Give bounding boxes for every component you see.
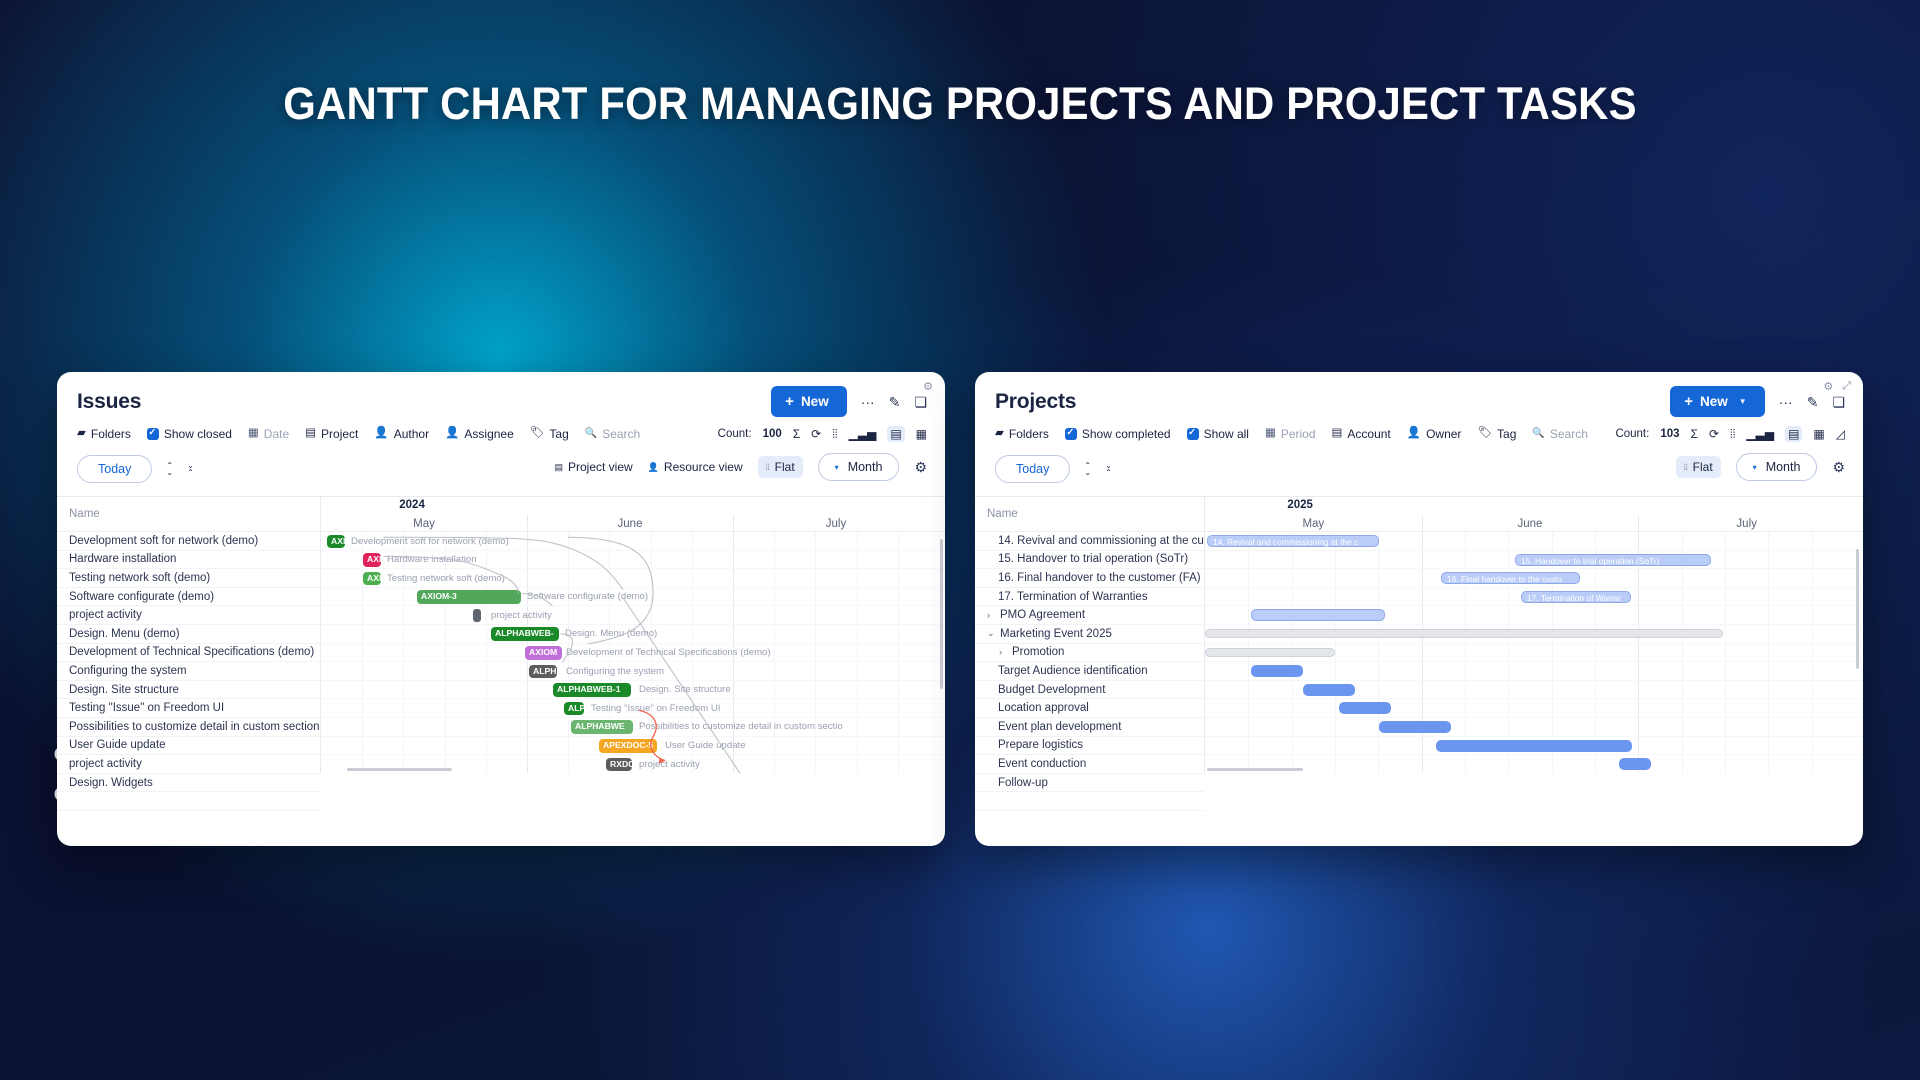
week-gridline <box>1595 699 1596 717</box>
trend-chart-icon[interactable]: ◿ <box>1836 428 1845 440</box>
gear-icon[interactable]: ⚙ <box>1832 460 1845 474</box>
month-gridline <box>1422 681 1423 699</box>
week-gridline <box>774 681 775 699</box>
gantt-bar[interactable] <box>1339 702 1391 714</box>
gantt-bar[interactable]: ALPHABWEB-1 <box>553 683 631 697</box>
issues-header: Issues + New ··· ✎ ❏ <box>57 372 945 414</box>
table-row[interactable]: ›Promotion <box>975 644 1204 663</box>
week-gridline <box>898 699 899 717</box>
week-gridline <box>403 718 404 736</box>
week-gridline <box>1812 569 1813 587</box>
week-gridline <box>857 737 858 755</box>
table-row[interactable]: ⌄Marketing Event 2025 <box>975 625 1204 644</box>
gantt-row <box>1205 755 1863 773</box>
week-gridline <box>774 588 775 606</box>
gantt-bar-caption: project activity <box>491 609 552 623</box>
week-gridline <box>898 551 899 569</box>
issues-vertical-scrollbar[interactable] <box>940 539 944 689</box>
week-gridline <box>1248 569 1249 587</box>
table-row[interactable] <box>975 792 1204 811</box>
issues-month-labels: MayJuneJuly <box>321 513 945 531</box>
week-gridline <box>1682 532 1683 550</box>
person-icon: 👤 <box>445 428 459 440</box>
table-row[interactable]: Possibilities to customize detail in cus… <box>57 718 320 737</box>
filter-author[interactable]: 👤Author <box>374 427 429 441</box>
gantt-bar[interactable]: AXIOM <box>525 646 562 660</box>
week-gridline <box>1292 569 1293 587</box>
week-gridline <box>362 588 363 606</box>
month-gridline <box>527 755 528 773</box>
week-gridline <box>486 644 487 662</box>
row-label: Target Audience identification <box>998 665 1148 677</box>
bar-chart-icon[interactable]: ▁▃▅ <box>1746 428 1774 440</box>
list-view-icon[interactable]: ⦙⦙ <box>1730 428 1735 440</box>
issues-count-value: 100 <box>763 428 782 440</box>
week-gridline <box>1595 755 1596 773</box>
gantt-bar[interactable] <box>1303 684 1355 696</box>
pencil-icon[interactable]: ✎ <box>1807 395 1819 409</box>
filter-folders[interactable]: ▰Folders <box>77 427 131 441</box>
table-row[interactable] <box>57 792 320 811</box>
issues-count-label: Count: <box>718 428 752 440</box>
view-mode-resource-view[interactable]: 👤Resource view <box>648 460 743 474</box>
vertical-stepper-icon[interactable]: ⌃⌄ <box>166 462 173 476</box>
collapse-rows-icon[interactable]: ⌄⌃ <box>1105 462 1112 476</box>
filter-period[interactable]: ▦Period <box>1265 427 1316 441</box>
issues-panel: ⚙ Issues + New ··· ✎ ❏ ▰FoldersShow clos… <box>57 372 945 846</box>
week-gridline <box>1335 718 1336 736</box>
filter-label: Folders <box>91 427 131 441</box>
view-mode-flat[interactable]: ⦙⦙Flat <box>1676 456 1721 478</box>
pencil-icon[interactable]: ✎ <box>889 395 901 409</box>
week-gridline <box>1292 699 1293 717</box>
filter-account[interactable]: ▤Account <box>1332 427 1391 441</box>
month-gridline <box>1638 718 1639 736</box>
gantt-bar[interactable]: 14. Revival and commissioning at the c <box>1207 535 1379 547</box>
week-gridline <box>1768 532 1769 550</box>
issues-row-names: Development soft for network (demo)Hardw… <box>57 532 320 811</box>
week-gridline <box>1812 551 1813 569</box>
week-gridline <box>898 606 899 624</box>
view-mode-label: Flat <box>1693 460 1713 474</box>
week-gridline <box>362 644 363 662</box>
milestone-marker[interactable] <box>473 609 481 623</box>
table-row[interactable]: 17. Termination of Warranties <box>975 588 1204 607</box>
week-gridline <box>651 569 652 587</box>
bar-chart-icon[interactable]: ▁▃▅ <box>849 428 877 440</box>
filter-show-closed[interactable]: Show closed <box>147 427 232 441</box>
search-icon: 🔍 <box>1532 429 1544 439</box>
gantt-bar[interactable] <box>1379 721 1451 733</box>
chevron-down-icon[interactable]: ⌄ <box>987 628 1000 639</box>
week-gridline <box>1508 718 1509 736</box>
month-gridline <box>1422 662 1423 680</box>
week-gridline <box>692 588 693 606</box>
table-row[interactable]: Event conduction <box>975 755 1204 774</box>
week-gridline <box>1768 737 1769 755</box>
table-row[interactable]: project activity <box>57 606 320 625</box>
week-gridline <box>1768 588 1769 606</box>
week-gridline <box>692 662 693 680</box>
table-row[interactable]: Testing network soft (demo) <box>57 569 320 588</box>
week-gridline <box>568 569 569 587</box>
table-row[interactable]: Event plan development <box>975 718 1204 737</box>
checkbox-icon[interactable] <box>1065 428 1077 440</box>
gantt-bar[interactable]: RXDC <box>606 758 632 772</box>
week-gridline <box>1682 699 1683 717</box>
table-row[interactable]: Development of Technical Specifications … <box>57 644 320 663</box>
filter-project[interactable]: ▤Project <box>305 427 358 441</box>
filter-tag[interactable]: 🏷Tag <box>1477 427 1516 441</box>
month-gridline <box>527 569 528 587</box>
table-row[interactable]: 15. Handover to trial operation (SoTr) <box>975 551 1204 570</box>
gantt-bar-caption: Development of Technical Specifications … <box>566 646 771 660</box>
week-gridline <box>898 681 899 699</box>
gantt-row <box>1205 681 1863 700</box>
week-gridline <box>568 532 569 550</box>
filter-label: Account <box>1347 427 1390 441</box>
week-gridline <box>1552 699 1553 717</box>
month-gridline <box>1638 699 1639 717</box>
month-gridline <box>733 606 734 624</box>
projects-year-label: 2025 <box>1287 499 1313 511</box>
week-gridline <box>568 551 569 569</box>
week-gridline <box>898 569 899 587</box>
gantt-bar-caption: Development soft for network (demo) <box>351 535 509 549</box>
week-gridline <box>651 551 652 569</box>
refresh-icon[interactable]: ⟳ <box>1709 428 1719 440</box>
gantt-bar[interactable]: AXI <box>363 553 381 567</box>
filter-label: Project <box>321 427 358 441</box>
month-gridline <box>1638 588 1639 606</box>
issues-new-button[interactable]: + New <box>771 386 847 417</box>
gantt-bar[interactable] <box>1251 609 1385 621</box>
search-input[interactable]: 🔍Search <box>585 427 640 441</box>
week-gridline <box>1682 718 1683 736</box>
view-mode-label: Flat <box>775 460 795 474</box>
gantt-bar[interactable]: ALPHABWE <box>571 720 633 734</box>
gantt-bar[interactable] <box>1436 740 1632 752</box>
chevron-down-icon: ▼ <box>1739 397 1747 406</box>
week-gridline <box>774 606 775 624</box>
gantt-bar-caption: 16. Final handover to the custo <box>1447 573 1562 585</box>
week-gridline <box>1508 699 1509 717</box>
gantt-bar[interactable]: AXIOM-3 <box>417 590 521 604</box>
grid-view-icon[interactable]: ▦ <box>916 428 927 440</box>
table-row[interactable]: Software configurate (demo) <box>57 588 320 607</box>
week-gridline <box>1248 551 1249 569</box>
week-gridline <box>1552 718 1553 736</box>
month-gridline <box>527 532 528 550</box>
gantt-row: ALPTesting "Issue" on Freedom UI <box>321 699 945 718</box>
refresh-icon[interactable]: ⟳ <box>811 428 821 440</box>
grid-icon: ⦙⦙ <box>766 463 770 472</box>
table-row[interactable]: 14. Revival and commissioning at the cus… <box>975 532 1204 551</box>
week-gridline <box>1378 588 1379 606</box>
ellipsis-icon[interactable]: ··· <box>1779 395 1793 409</box>
gantt-bar[interactable]: AXI <box>327 535 345 549</box>
week-gridline <box>1725 569 1726 587</box>
month-gridline <box>1422 569 1423 587</box>
week-gridline <box>1812 755 1813 773</box>
week-gridline <box>1508 755 1509 773</box>
filter-label: Tag <box>1497 427 1516 441</box>
filter-date[interactable]: ▦Date <box>248 427 289 441</box>
table-row[interactable]: Follow-up <box>975 774 1204 793</box>
gantt-bar[interactable] <box>1205 648 1335 657</box>
view-mode-project-view[interactable]: ▤Project view <box>554 460 632 474</box>
week-gridline <box>651 532 652 550</box>
gantt-bar[interactable] <box>1619 758 1651 770</box>
week-gridline <box>1725 662 1726 680</box>
month-label: May <box>1205 518 1422 530</box>
table-row[interactable]: Design. Menu (demo) <box>57 625 320 644</box>
week-gridline <box>445 737 446 755</box>
gantt-bar[interactable] <box>1205 629 1723 638</box>
chevron-right-icon[interactable]: › <box>999 647 1012 657</box>
gantt-row: AXIDevelopment soft for network (demo) <box>321 532 945 551</box>
week-gridline <box>1725 681 1726 699</box>
filter-assignee[interactable]: 👤Assignee <box>445 427 514 441</box>
filter-label: Folders <box>1009 427 1049 441</box>
week-gridline <box>486 625 487 643</box>
issues-gantt: Name Development soft for network (demo)… <box>57 496 945 773</box>
week-gridline <box>898 755 899 773</box>
projects-today-button[interactable]: Today <box>995 455 1070 483</box>
projects-count-box: Count: 103 Σ ⟳ ⦙⦙ ▁▃▅ ▤ ▦ ◿ <box>1615 426 1845 442</box>
gantt-bar[interactable]: 16. Final handover to the custo <box>1441 572 1580 584</box>
week-gridline <box>1595 662 1596 680</box>
month-gridline <box>733 551 734 569</box>
gantt-row <box>1205 644 1863 663</box>
view-mode-label: Resource view <box>664 460 743 474</box>
gantt-bar-caption: project activity <box>639 758 700 772</box>
week-gridline <box>1552 755 1553 773</box>
search-input[interactable]: 🔍Search <box>1532 427 1587 441</box>
filter-label: Show closed <box>164 427 232 441</box>
projects-vertical-scrollbar[interactable] <box>1856 549 1860 669</box>
row-label: 15. Handover to trial operation (SoTr) <box>998 553 1188 565</box>
table-row[interactable]: Location approval <box>975 699 1204 718</box>
week-gridline <box>403 625 404 643</box>
week-gridline <box>1292 718 1293 736</box>
filter-label: Author <box>394 427 429 441</box>
projects-filter-bar: ▰FoldersShow completedShow all▦Period▤Ac… <box>975 414 1863 441</box>
week-gridline <box>1725 588 1726 606</box>
gantt-bar[interactable]: 15. Handover to trial operation (SoTr) <box>1515 554 1711 566</box>
week-gridline <box>568 755 569 773</box>
week-gridline <box>1248 662 1249 680</box>
week-gridline <box>568 737 569 755</box>
week-gridline <box>1812 681 1813 699</box>
table-row[interactable]: Design. Site structure <box>57 681 320 700</box>
week-gridline <box>692 551 693 569</box>
row-label: Event plan development <box>998 721 1121 733</box>
gantt-bar[interactable]: ALPH <box>529 665 557 679</box>
filter-label: Period <box>1281 427 1316 441</box>
person-icon: 👤 <box>374 428 388 440</box>
gear-icon[interactable]: ⚙ <box>914 460 927 474</box>
gantt-view-icon[interactable]: ▤ <box>1785 426 1802 442</box>
table-row[interactable]: Design. Widgets <box>57 774 320 793</box>
month-gridline <box>733 625 734 643</box>
person-icon: 👤 <box>1407 428 1421 440</box>
week-gridline <box>651 588 652 606</box>
row-label: 14. Revival and commissioning at the cus… <box>998 535 1204 547</box>
month-gridline <box>527 681 528 699</box>
week-gridline <box>609 532 610 550</box>
week-gridline <box>445 681 446 699</box>
row-label: Design. Widgets <box>69 777 153 789</box>
week-gridline <box>857 606 858 624</box>
projects-horizontal-scrollbar[interactable] <box>1207 768 1303 772</box>
gantt-bar[interactable]: ALP <box>564 702 584 716</box>
week-gridline <box>1552 662 1553 680</box>
month-gridline <box>1638 532 1639 550</box>
week-gridline <box>1335 569 1336 587</box>
week-gridline <box>1812 699 1813 717</box>
week-gridline <box>1595 681 1596 699</box>
plus-icon: + <box>785 394 794 409</box>
week-gridline <box>857 699 858 717</box>
week-gridline <box>1768 755 1769 773</box>
projects-scale-dropdown[interactable]: ▾ Month <box>1736 453 1818 481</box>
week-gridline <box>857 532 858 550</box>
table-row[interactable]: Testing "Issue" on Freedom UI <box>57 699 320 718</box>
filter-label: Owner <box>1426 427 1461 441</box>
table-row[interactable]: Development soft for network (demo) <box>57 532 320 551</box>
gantt-bar[interactable]: 17. Termination of Warrar <box>1521 591 1631 603</box>
projects-header-actions: + New ▼ ··· ✎ ❏ <box>1670 386 1845 417</box>
chevron-right-icon[interactable]: › <box>987 610 1000 620</box>
list-view-icon[interactable]: ⦙⦙ <box>832 428 837 440</box>
week-gridline <box>815 681 816 699</box>
week-gridline <box>1682 662 1683 680</box>
month-gridline <box>733 662 734 680</box>
gantt-bar-caption: 15. Handover to trial operation (SoTr) <box>1521 555 1659 567</box>
search-icon: 🔍 <box>585 429 597 439</box>
table-row[interactable]: User Guide update <box>57 737 320 756</box>
week-gridline <box>1508 551 1509 569</box>
gantt-bar[interactable]: APEXDOC-5 <box>599 739 657 753</box>
week-gridline <box>815 662 816 680</box>
sigma-icon[interactable]: Σ <box>793 428 800 440</box>
table-row[interactable]: ›PMO Agreement <box>975 606 1204 625</box>
folder-icon: ▰ <box>995 428 1004 440</box>
week-gridline <box>1378 662 1379 680</box>
month-divider <box>1638 515 1639 532</box>
week-gridline <box>898 718 899 736</box>
issues-view-modes: ▤Project view👤Resource view⦙⦙Flat ▾ Mont… <box>554 453 927 481</box>
week-gridline <box>1552 532 1553 550</box>
gantt-bar[interactable]: AXI <box>363 572 381 586</box>
gantt-view-icon[interactable]: ▤ <box>887 426 904 442</box>
week-gridline <box>1465 755 1466 773</box>
grid-icon: ⦙⦙ <box>1684 463 1688 472</box>
vertical-stepper-icon[interactable]: ⌃⌄ <box>1084 462 1091 476</box>
filter-label: Date <box>264 427 289 441</box>
row-label: 16. Final handover to the customer (FA) <box>998 572 1201 584</box>
week-gridline <box>1595 606 1596 624</box>
week-gridline <box>1508 532 1509 550</box>
week-gridline <box>1248 737 1249 755</box>
week-gridline <box>1378 755 1379 773</box>
gantt-bar[interactable]: ALPHABWEB- <box>491 627 559 641</box>
row-label: Design. Menu (demo) <box>69 628 180 640</box>
table-row[interactable]: Hardware installation <box>57 551 320 570</box>
month-divider <box>1422 515 1423 532</box>
grid-view-icon[interactable]: ▦ <box>1813 428 1824 440</box>
week-gridline <box>486 606 487 624</box>
collapse-rows-icon[interactable]: ⌄⌃ <box>187 462 194 476</box>
week-gridline <box>486 718 487 736</box>
table-row[interactable]: Target Audience identification <box>975 662 1204 681</box>
projects-new-label: New <box>1700 394 1728 409</box>
tag-icon: 🏷 <box>530 428 545 440</box>
checkbox-icon[interactable] <box>1187 428 1199 440</box>
filter-show-completed[interactable]: Show completed <box>1065 427 1171 441</box>
week-gridline <box>486 662 487 680</box>
projects-new-button[interactable]: + New ▼ <box>1670 386 1764 417</box>
month-gridline <box>1422 532 1423 550</box>
copy-icon[interactable]: ❏ <box>914 395 927 409</box>
week-gridline <box>403 644 404 662</box>
week-gridline <box>609 606 610 624</box>
month-gridline <box>1638 737 1639 755</box>
ellipsis-icon[interactable]: ··· <box>861 395 875 409</box>
week-gridline <box>568 606 569 624</box>
week-gridline <box>857 755 858 773</box>
week-gridline <box>362 681 363 699</box>
gantt-bar[interactable] <box>1251 665 1303 677</box>
table-row[interactable]: 16. Final handover to the customer (FA) <box>975 569 1204 588</box>
month-gridline <box>733 699 734 717</box>
filter-show-all[interactable]: Show all <box>1187 427 1249 441</box>
week-gridline <box>1725 532 1726 550</box>
week-gridline <box>774 569 775 587</box>
filter-folders[interactable]: ▰Folders <box>995 427 1049 441</box>
filter-owner[interactable]: 👤Owner <box>1407 427 1462 441</box>
row-label: Promotion <box>1012 646 1064 658</box>
table-row[interactable]: Budget Development <box>975 681 1204 700</box>
table-row[interactable]: Prepare logistics <box>975 737 1204 756</box>
table-row[interactable]: project activity <box>57 755 320 774</box>
week-gridline <box>815 569 816 587</box>
filter-tag[interactable]: 🏷Tag <box>530 427 569 441</box>
checkbox-icon[interactable] <box>147 428 159 440</box>
week-gridline <box>1292 551 1293 569</box>
issues-horizontal-scrollbar[interactable] <box>347 768 452 772</box>
week-gridline <box>486 699 487 717</box>
week-gridline <box>1248 588 1249 606</box>
gantt-row: AXIOMDevelopment of Technical Specificat… <box>321 644 945 663</box>
issues-today-button[interactable]: Today <box>77 455 152 483</box>
view-mode-flat[interactable]: ⦙⦙Flat <box>758 456 803 478</box>
copy-icon[interactable]: ❏ <box>1832 395 1845 409</box>
month-label: June <box>527 518 733 530</box>
month-gridline <box>733 569 734 587</box>
sigma-icon[interactable]: Σ <box>1691 428 1698 440</box>
week-gridline <box>1725 551 1726 569</box>
table-row[interactable]: Configuring the system <box>57 662 320 681</box>
gantt-row <box>1205 737 1863 756</box>
row-label: Configuring the system <box>69 665 187 677</box>
week-gridline <box>815 625 816 643</box>
week-gridline <box>815 755 816 773</box>
month-label: June <box>1422 518 1639 530</box>
month-gridline <box>527 718 528 736</box>
issues-scale-dropdown[interactable]: ▾ Month <box>818 453 900 481</box>
